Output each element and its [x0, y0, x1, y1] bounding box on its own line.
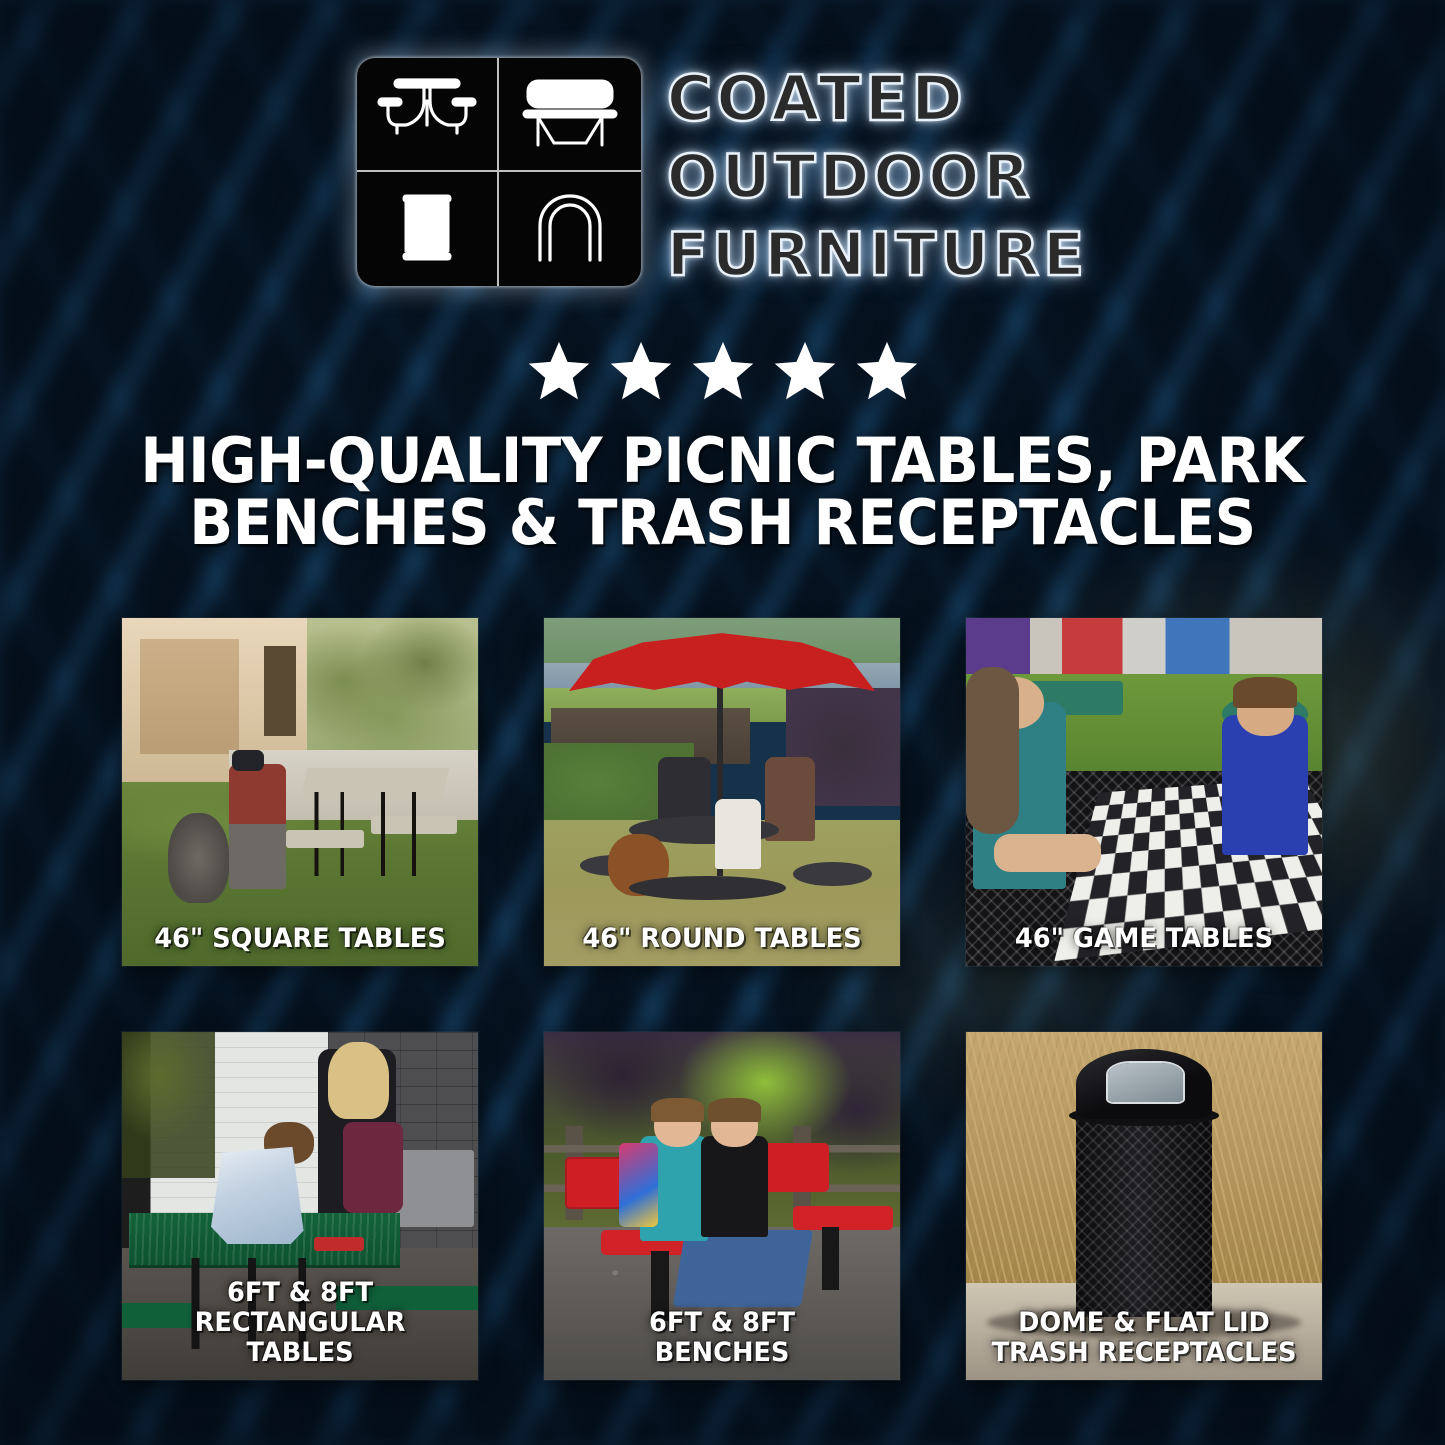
star-rating — [0, 338, 1445, 404]
brand-word-coated: COATED — [667, 60, 1088, 138]
brand-header: COATED OUTDOOR FURNITURE — [0, 58, 1445, 294]
brand-word-outdoor: OUTDOOR — [667, 138, 1088, 216]
arch-dome-icon — [499, 172, 641, 286]
tile-caption-line-2: TRASH RECEPTACLES — [981, 1338, 1308, 1368]
tile-caption-line-2: RECTANGULAR TABLES — [137, 1308, 464, 1368]
tile-caption-line-1: 6FT & 8FT — [137, 1278, 464, 1308]
product-tile-trash-receptacles[interactable]: DOME & FLAT LID TRASH RECEPTACLES — [966, 1032, 1322, 1380]
trash-receptacle-icon — [357, 172, 499, 286]
product-tile-round-tables[interactable]: 46" ROUND TABLES — [544, 618, 900, 966]
tile-caption-line-1: DOME & FLAT LID — [981, 1308, 1308, 1338]
tile-caption: 46" GAME TABLES — [975, 924, 1313, 954]
headline-line-1: HIGH-QUALITY PICNIC TABLES, PARK — [134, 430, 1310, 492]
brand-logo-mark — [357, 58, 641, 286]
product-tile-square-tables[interactable]: 46" SQUARE TABLES — [122, 618, 478, 966]
product-tile-grid: 46" SQUARE TABLES — [122, 618, 1323, 1380]
star-icon — [854, 338, 920, 404]
round-table-photo — [544, 618, 900, 966]
tile-caption: DOME & FLAT LID TRASH RECEPTACLES — [975, 1308, 1313, 1368]
product-tile-rectangular-tables[interactable]: 6FT & 8FT RECTANGULAR TABLES — [122, 1032, 478, 1380]
game-table-photo — [966, 618, 1322, 966]
headline-line-2: BENCHES & TRASH RECEPTACLES — [134, 492, 1310, 554]
tile-caption-line-1: 46" SQUARE TABLES — [137, 924, 464, 954]
tile-caption: 6FT & 8FT RECTANGULAR TABLES — [131, 1278, 469, 1368]
brand-word-furniture: FURNITURE — [667, 216, 1088, 294]
star-icon — [772, 338, 838, 404]
promo-poster: COATED OUTDOOR FURNITURE HIGH-QUALITY PI… — [0, 0, 1445, 1445]
tile-caption: 6FT & 8FT BENCHES — [553, 1308, 891, 1368]
tile-caption-line-1: 46" ROUND TABLES — [559, 924, 886, 954]
headline: HIGH-QUALITY PICNIC TABLES, PARK BENCHES… — [134, 430, 1310, 554]
square-table-photo — [122, 618, 478, 966]
star-icon — [608, 338, 674, 404]
brand-wordmark: COATED OUTDOOR FURNITURE — [667, 58, 1088, 294]
tile-caption-line-1: 6FT & 8FT — [559, 1308, 886, 1338]
product-tile-benches[interactable]: 6FT & 8FT BENCHES — [544, 1032, 900, 1380]
tile-caption-line-1: 46" GAME TABLES — [981, 924, 1308, 954]
tile-caption: 46" ROUND TABLES — [553, 924, 891, 954]
tile-caption-line-2: BENCHES — [559, 1338, 886, 1368]
tile-caption: 46" SQUARE TABLES — [131, 924, 469, 954]
bench-icon — [499, 58, 641, 172]
round-picnic-table-icon — [357, 58, 499, 172]
star-icon — [526, 338, 592, 404]
star-icon — [690, 338, 756, 404]
product-tile-game-tables[interactable]: 46" GAME TABLES — [966, 618, 1322, 966]
